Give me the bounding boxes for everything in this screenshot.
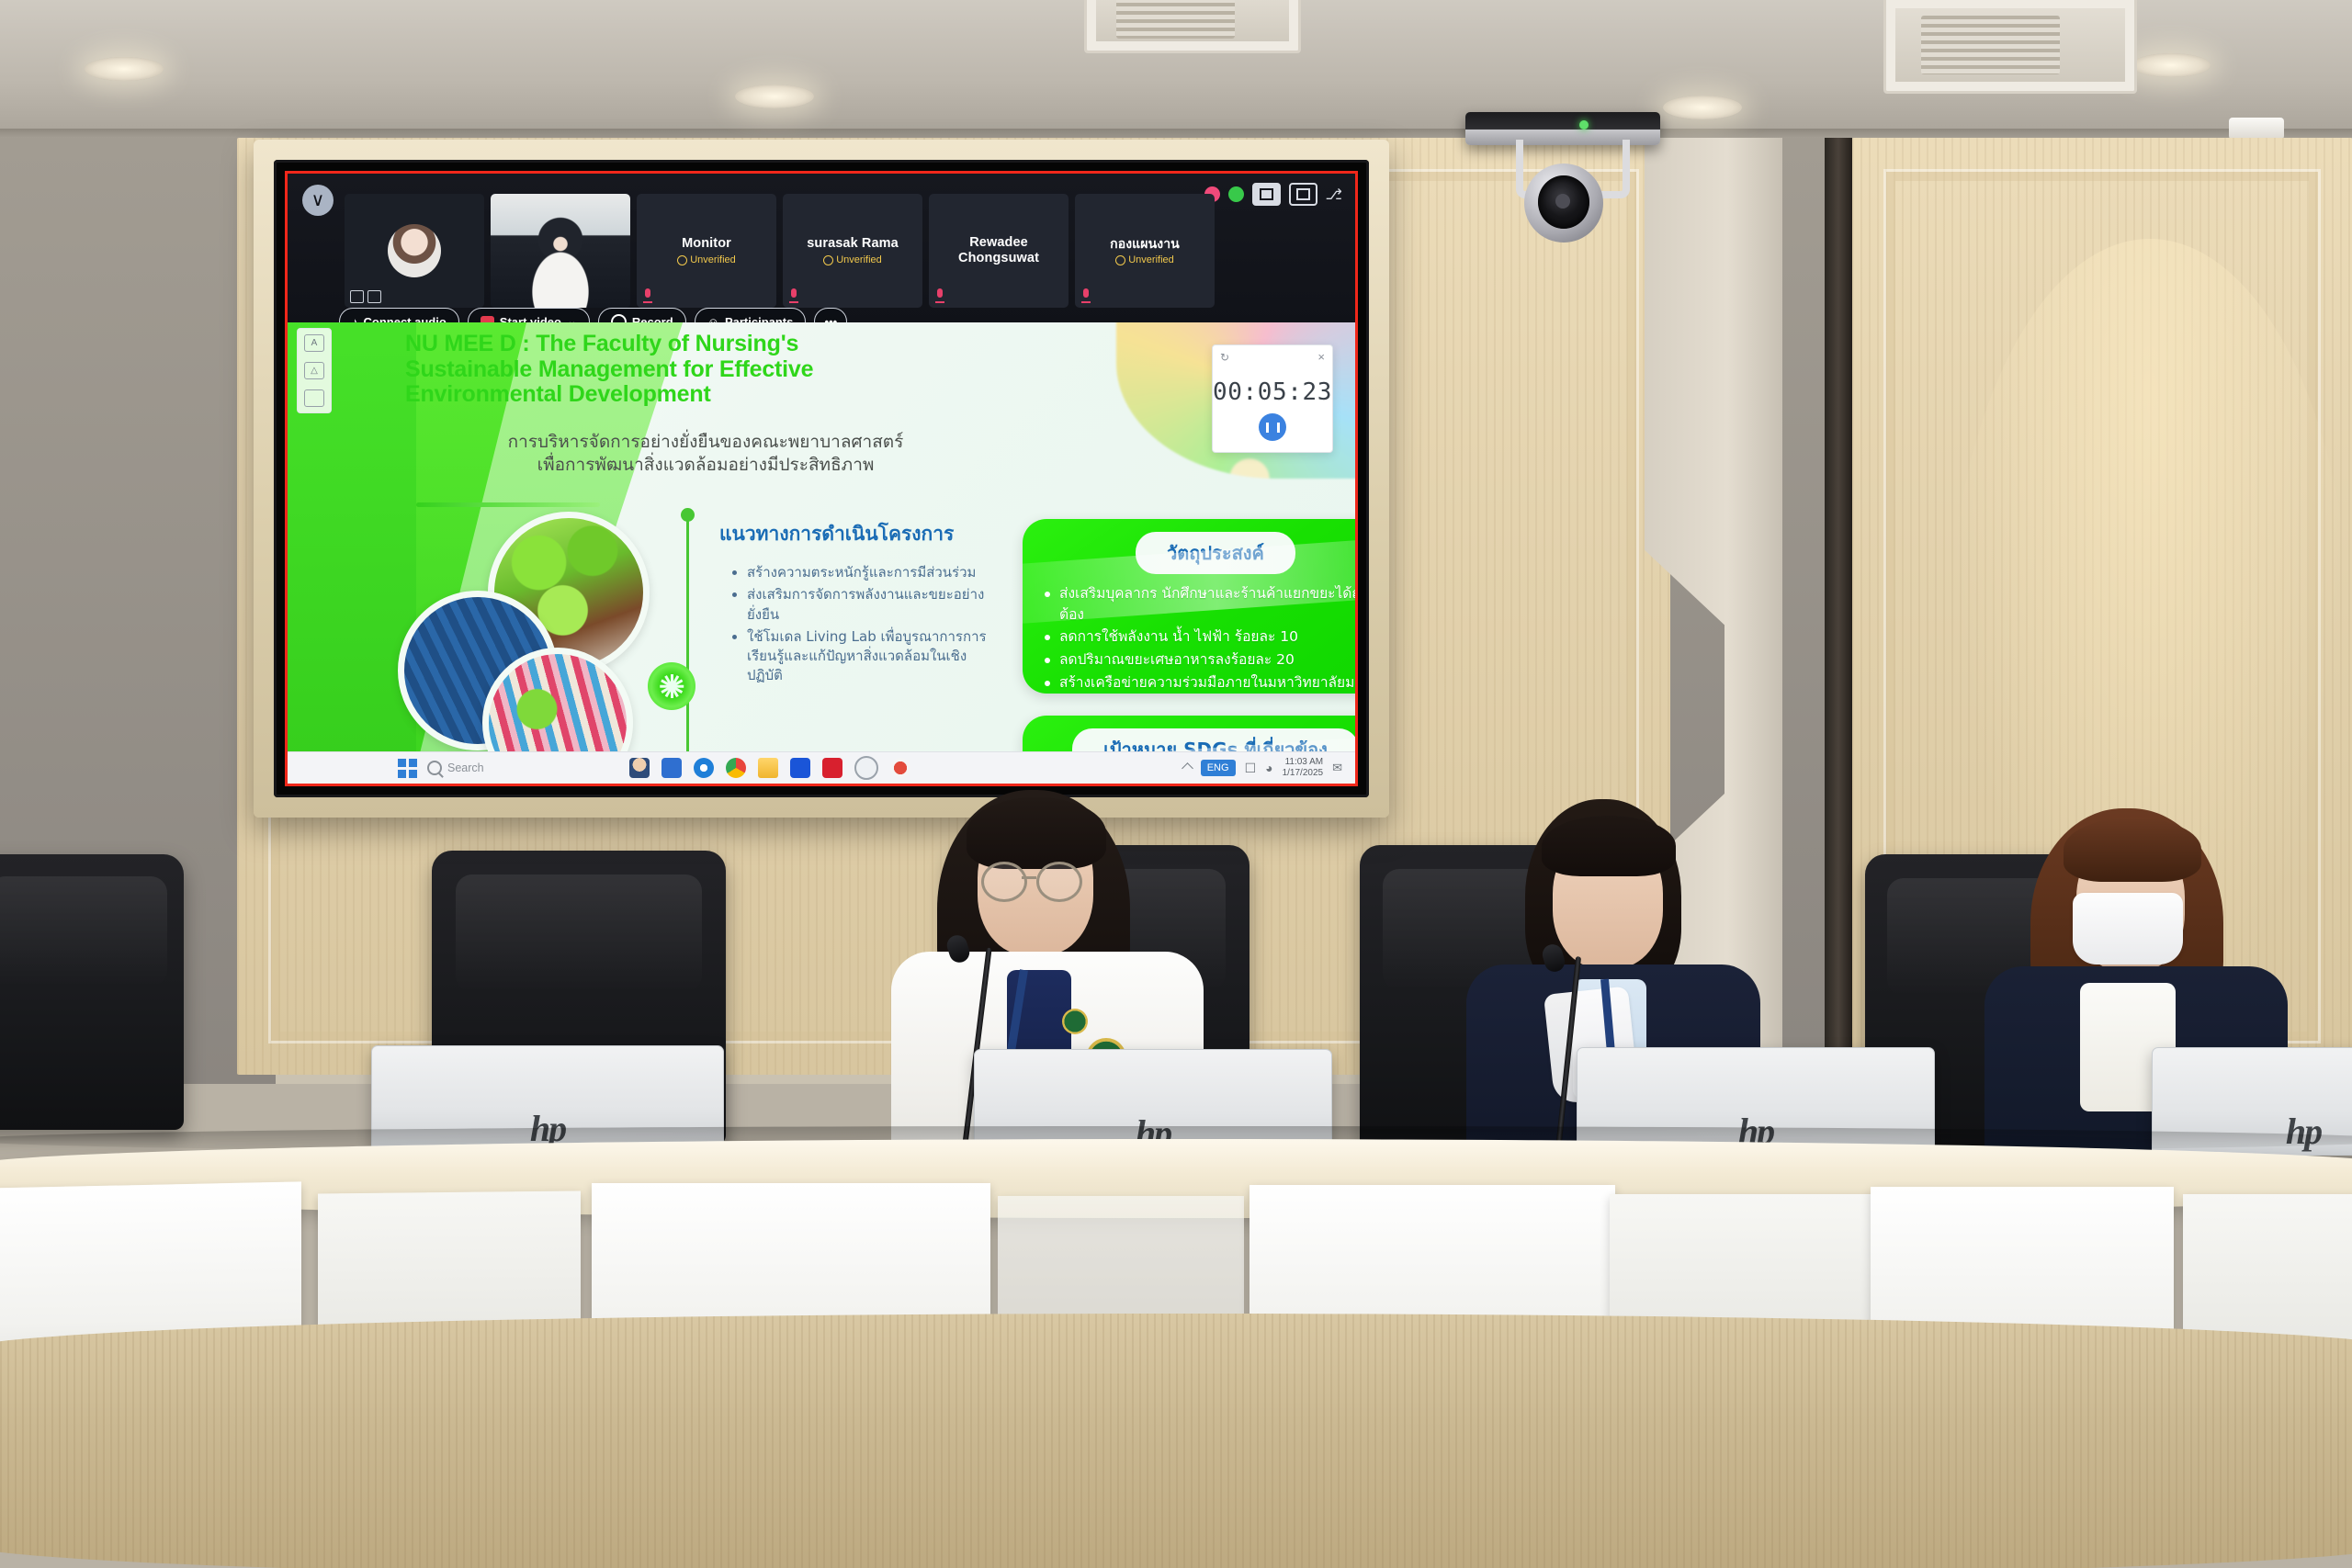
sdg-heading: เป้าหมาย SDGs ที่เกี่ยวข้อง	[1072, 728, 1355, 752]
text-tool-icon[interactable]: A	[304, 334, 324, 352]
blue-app-icon[interactable]	[661, 758, 682, 778]
video-feed	[491, 194, 630, 308]
media-app-icon[interactable]	[890, 758, 910, 778]
taskbar-search[interactable]: Search	[427, 761, 484, 775]
slide-subtitle-line1: การบริหารจัดการอย่างยั่งยืนของคณะพยาบาลศ…	[425, 431, 986, 454]
slide-subtitle-line2: เพื่อการพัฒนาสิ่งแวดล้อมอย่างมีประสิทธิภ…	[425, 454, 986, 477]
downlight	[2131, 53, 2211, 77]
participant-name: Monitor	[682, 236, 731, 252]
timer-pause-button[interactable]	[1259, 413, 1286, 441]
list-item: ลดการใช้พลังงาน น้ำ ไฟฟ้า ร้อยละ 10	[1059, 626, 1355, 648]
start-button-icon[interactable]	[398, 759, 417, 778]
speaker-view-icon[interactable]	[1252, 183, 1281, 206]
unverified-badge: Unverified	[823, 254, 882, 265]
downlight	[1663, 96, 1742, 119]
file-explorer-icon[interactable]	[758, 758, 778, 778]
participant-tile-video[interactable]	[491, 194, 630, 308]
taskbar-system-tray: ENG ☐ ◕ 11:03 AM 1/17/2025 ✉	[1183, 757, 1342, 780]
window-controls: ⎇	[1204, 183, 1342, 206]
zoom-meeting-bar: ∨ ⎇	[288, 174, 1355, 330]
slide-title: NU MEE D : The Faculty of Nursing's Sust…	[405, 332, 993, 408]
slide-subtitle: การบริหารจัดการอย่างยั่งยืนของคณะพยาบาลศ…	[425, 431, 986, 477]
mic-muted-icon	[935, 288, 944, 303]
guidelines-heading: แนวทางการดำเนินโครงการ	[719, 519, 954, 549]
participant-tile-monitor[interactable]: Monitor Unverified	[637, 194, 776, 308]
camera-lens-icon	[1538, 175, 1589, 229]
downlight	[735, 85, 814, 108]
ac-vent	[1883, 0, 2137, 94]
list-item: ส่งเสริมบุคลากร นักศึกษาและร้านค้าแยกขยะ…	[1059, 583, 1355, 625]
unverified-badge: Unverified	[677, 254, 736, 265]
network-icon[interactable]: ☐	[1245, 761, 1257, 776]
ime-indicator[interactable]: ENG	[1201, 760, 1236, 776]
slide-photo-cluster	[398, 512, 701, 752]
notifications-icon[interactable]: ✉	[1332, 761, 1342, 775]
mic-muted-icon	[643, 288, 652, 303]
participant-name: Rewadee Chongsuwat	[929, 235, 1069, 265]
hair-front	[967, 797, 1106, 869]
presentation-slide[interactable]: A △ NU MEE D : The Faculty of Nursing's …	[288, 322, 1355, 752]
taskbar-start-area: Search	[398, 759, 484, 778]
objectives-box: วัตถุประสงค์ ส่งเสริมบุคลากร นักศึกษาและ…	[1023, 519, 1355, 694]
chair	[0, 854, 184, 1130]
list-item: ส่งเสริมการจัดการพลังงานและขยะอย่างยั่งย…	[747, 585, 993, 625]
participant-tile[interactable]	[345, 194, 484, 308]
zoom-app-icon[interactable]	[790, 758, 810, 778]
list-item: ใช้โมเดล Living Lab เพื่อบูรณาการการเรีย…	[747, 627, 993, 686]
glasses-bridge	[1022, 876, 1036, 879]
slide-mini-toolbar[interactable]: A △	[297, 328, 332, 413]
taskbar-app-icons	[629, 756, 910, 780]
participant-name: กองแผนงาน	[1110, 236, 1180, 251]
camera-status-led	[1579, 120, 1589, 130]
ptz-camera[interactable]	[1524, 164, 1603, 243]
display-bezel: ∨ ⎇	[274, 160, 1369, 797]
objectives-heading: วัตถุประสงค์	[1136, 532, 1295, 574]
gallery-view-icon[interactable]	[1289, 183, 1317, 206]
screenshot-root: ∨ ⎇	[0, 0, 2352, 1568]
participant-tile-rewadee[interactable]: Rewadee Chongsuwat	[929, 194, 1069, 308]
hair-front	[1542, 816, 1676, 876]
chrome-browser-icon[interactable]	[726, 758, 746, 778]
slide-title-line2: Sustainable Management for Effective	[405, 357, 993, 383]
unverified-badge: Unverified	[1115, 254, 1174, 265]
slide-title-line3: Environmental Development	[405, 382, 993, 408]
wall-display: ∨ ⎇	[254, 140, 1389, 818]
list-item: ลดปริมาณขยะเศษอาหารลงร้อยละ 20	[1059, 649, 1355, 671]
clock-icon	[823, 255, 833, 265]
search-icon	[427, 761, 442, 775]
mic-muted-icon	[1081, 288, 1091, 303]
list-item: สร้างเครือข่ายความร่วมมือภายในมหาวิทยาลั…	[1059, 672, 1355, 694]
taskbar-clock[interactable]: 11:03 AM 1/17/2025	[1283, 757, 1324, 780]
minimize-icon[interactable]	[1228, 186, 1244, 202]
ac-vent	[1084, 0, 1301, 53]
timer-widget[interactable]: ↻ × 00:05:23	[1212, 344, 1333, 453]
timer-refresh-icon[interactable]: ↻	[1220, 351, 1229, 364]
eyeglasses	[981, 862, 1090, 898]
lens-left	[981, 862, 1027, 902]
clock-icon	[1115, 255, 1125, 265]
avatar	[388, 224, 441, 277]
windows-taskbar[interactable]: Search	[288, 751, 1355, 784]
teal-browser-icon[interactable]	[694, 758, 714, 778]
contact-app-icon[interactable]	[629, 758, 650, 778]
participant-tile-kongpanngan[interactable]: กองแผนงาน Unverified	[1075, 194, 1215, 308]
volume-icon[interactable]: ◕	[1265, 761, 1272, 775]
timer-close-icon[interactable]: ×	[1317, 350, 1325, 364]
zoom-logo-icon[interactable]: ∨	[302, 185, 334, 216]
clock-time: 11:03 AM	[1285, 757, 1324, 767]
lens-right	[1036, 862, 1082, 902]
guidelines-list: สร้างความตระหนักรู้และการมีส่วนร่วม ส่งเ…	[730, 563, 993, 689]
tray-expand-icon[interactable]	[1182, 762, 1193, 774]
tile-controls[interactable]	[350, 290, 381, 303]
slide-title-line1: NU MEE D : The Faculty of Nursing's	[405, 332, 993, 357]
downlight	[85, 57, 164, 81]
vertical-divider	[686, 515, 689, 752]
clock-date: 1/17/2025	[1283, 768, 1324, 778]
share-icon[interactable]: ⎇	[1326, 186, 1342, 204]
table-front-panel	[0, 1314, 2352, 1568]
clock-icon	[677, 255, 687, 265]
hair-front	[2064, 818, 2201, 882]
timer-value: 00:05:23	[1213, 378, 1332, 406]
wall-seam	[1825, 138, 1852, 1084]
sun-burst-icon	[648, 662, 695, 710]
hp-logo: hp	[2286, 1110, 2321, 1153]
participant-tile-surasak[interactable]: surasak Rama Unverified	[783, 194, 922, 308]
list-item: สร้างความตระหนักรู้และการมีส่วนร่วม	[747, 563, 993, 582]
participant-tiles: Monitor Unverified surasak Rama Un	[345, 194, 1215, 308]
pdf-reader-icon[interactable]	[822, 758, 842, 778]
more-tool-icon[interactable]	[304, 389, 324, 407]
mic-muted-icon	[789, 288, 798, 303]
participant-name: surasak Rama	[807, 236, 899, 252]
lapel-pin	[1062, 1009, 1088, 1034]
face-mask	[2073, 893, 2183, 964]
clock-app-icon[interactable]	[854, 756, 878, 780]
shape-tool-icon[interactable]: △	[304, 362, 324, 379]
search-placeholder: Search	[447, 761, 484, 774]
sdg-box: เป้าหมาย SDGs ที่เกี่ยวข้อง SDG 12.3: ลด…	[1023, 716, 1355, 752]
title-underline	[416, 502, 600, 507]
display-screen[interactable]: ∨ ⎇	[285, 171, 1358, 786]
